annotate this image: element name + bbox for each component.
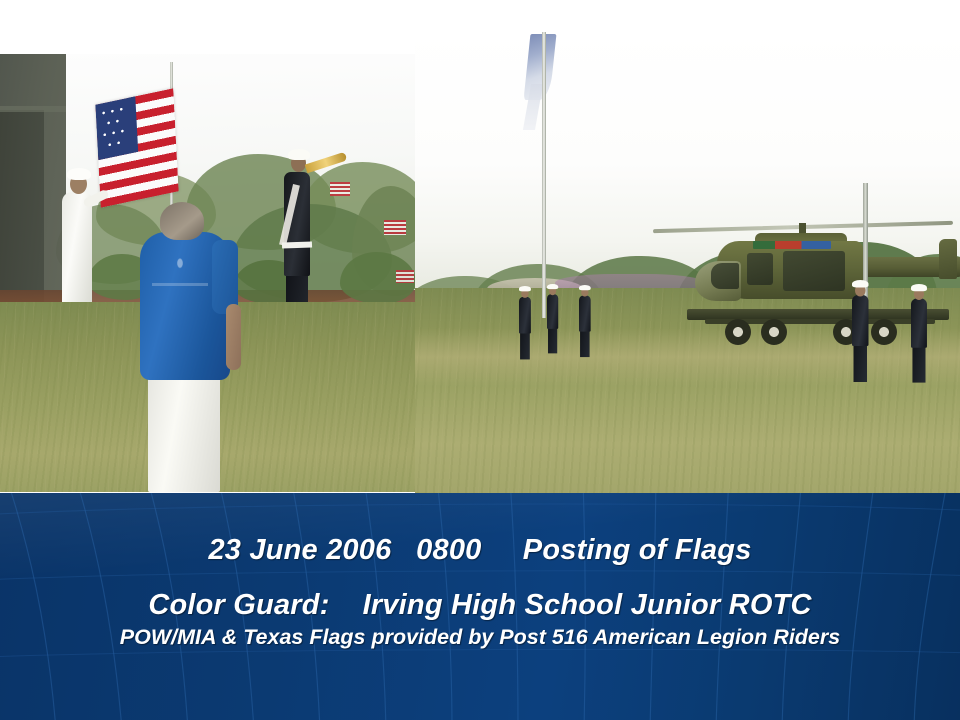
guard-torso [519,297,531,334]
crew-torso [852,295,869,346]
guard-white-cap [519,286,531,291]
cabin-window [747,253,773,285]
guard-white-cap [547,284,558,289]
crew-torso [911,299,927,348]
sailor-white-cap [67,168,91,180]
woman-hair [160,202,204,240]
woman-sleeve [212,240,238,314]
crew-white-cap [852,280,869,288]
memorial-salute-photo [0,54,415,492]
tail-fin [939,239,957,279]
woman-arm [226,304,241,370]
cockpit-window [711,263,739,289]
small-flag [330,182,350,196]
guard-legs [548,327,557,354]
caption-line-1: 23 June 2006 0800 Posting of Flags [0,534,960,567]
presentation-slide: 23 June 2006 0800 Posting of Flags Color… [0,0,960,720]
woman-white-pants [148,372,220,492]
trailer-wheel [871,319,897,345]
guard-torso [547,294,558,329]
flag-canton [95,96,138,160]
small-flag [384,220,406,235]
crew-white-cap [911,284,927,291]
trailer-wheel [725,319,751,345]
sailor-torso [62,192,92,310]
guard-legs [520,331,530,359]
shirt-graphic [152,250,208,310]
guard-legs [580,330,590,358]
bugler-white-cap [288,149,310,160]
livery-stripe [753,241,831,249]
flagpole-helicopter-photo [415,28,960,493]
bugler-belt [282,241,312,248]
trailer-wheel [761,319,787,345]
crew-legs [912,345,925,383]
caption-line-3: POW/MIA & Texas Flags provided by Post 5… [0,625,960,650]
flagpole [542,32,546,318]
cabin-door-opening [783,251,845,291]
guard-white-cap [579,285,591,290]
american-flag [95,88,178,207]
memorial-wall-cap [0,106,66,112]
guard-torso [579,296,591,332]
caption-banner: 23 June 2006 0800 Posting of Flags Color… [0,493,960,720]
caption-line-2: Color Guard: Irving High School Junior R… [0,589,960,622]
crew-legs [854,343,868,382]
small-flag [396,270,414,283]
